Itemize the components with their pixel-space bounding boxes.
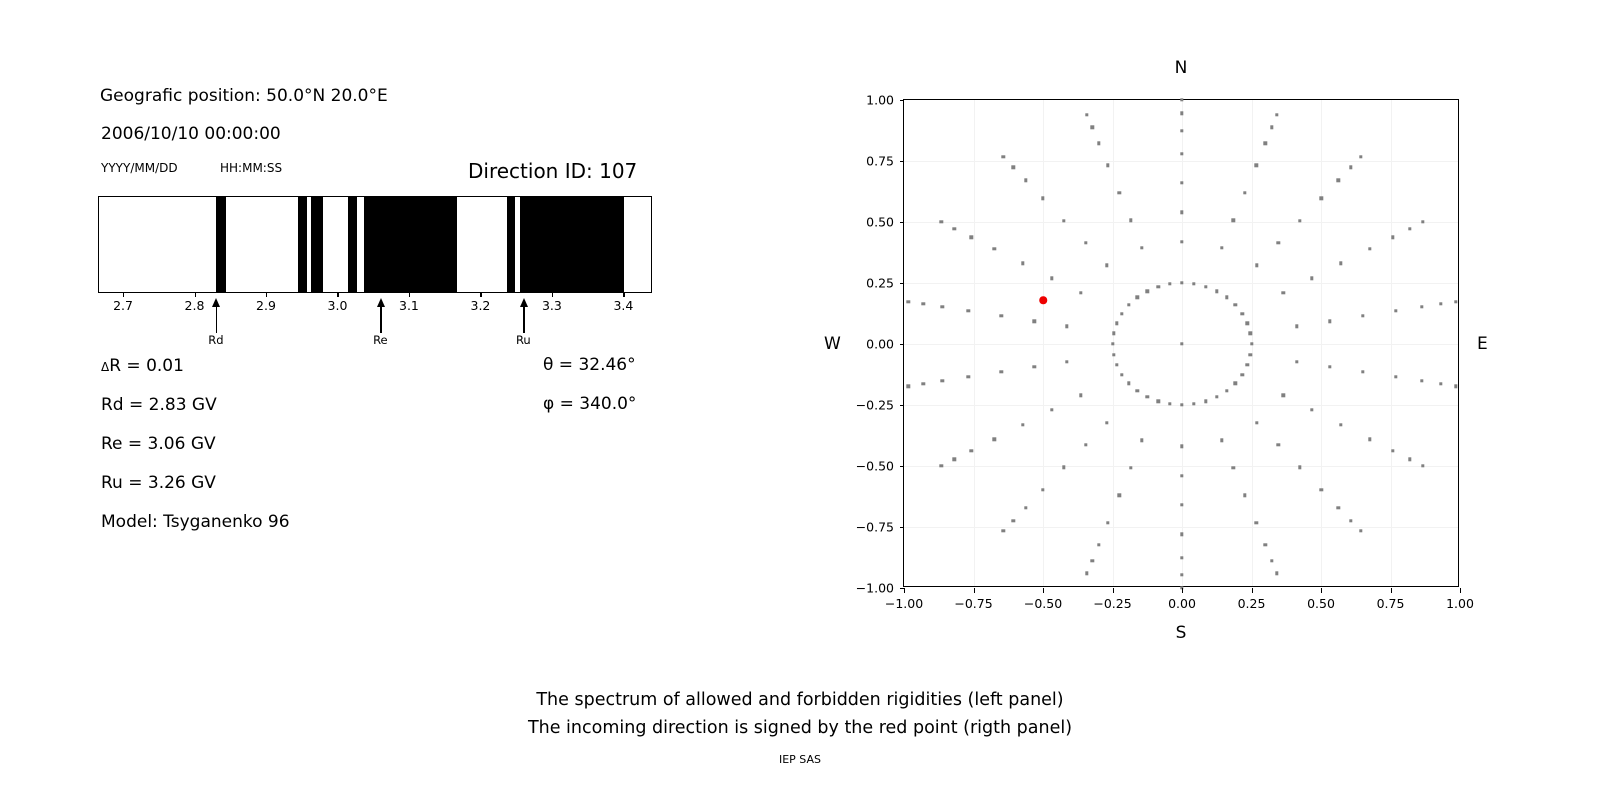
spectrum-x-tick-label: 3.1	[399, 298, 419, 313]
direction-point	[1180, 556, 1183, 559]
direction-point	[1220, 439, 1223, 442]
direction-point	[1454, 300, 1457, 303]
direction-point	[1180, 503, 1183, 506]
param-rd: Rd = 2.83 GV	[101, 395, 217, 415]
direction-point	[1000, 314, 1003, 317]
direction-point	[1249, 353, 1252, 356]
direction-point	[1106, 521, 1109, 524]
spectrum-marker-re: Re	[380, 293, 381, 339]
scatter-x-tick	[1460, 588, 1461, 593]
direction-point	[1361, 370, 1364, 373]
caption-line-2: The incoming direction is signed by the …	[0, 714, 1600, 742]
gridline-vertical	[974, 100, 975, 586]
spectrum-x-tick-label: 2.7	[113, 298, 133, 313]
scatter-x-tick	[1391, 588, 1392, 593]
param-re: Re = 3.06 GV	[101, 434, 216, 454]
scatter-y-tick	[900, 344, 905, 345]
direction-point	[967, 375, 970, 378]
param-delta-r-value: R = 0.01	[109, 356, 184, 376]
direction-point	[1420, 305, 1423, 308]
figure-root: Geografic position: 50.0°N 20.0°E 2006/1…	[0, 0, 1600, 800]
direction-point	[1084, 443, 1087, 446]
direction-point	[1115, 321, 1118, 324]
direction-point	[1157, 285, 1160, 288]
datetime-label: 2006/10/10 00:00:00	[101, 124, 281, 144]
compass-label-south: S	[1176, 623, 1187, 643]
direction-point	[1281, 291, 1284, 294]
direction-point	[1339, 262, 1342, 265]
spectrum-x-tick	[623, 293, 624, 297]
direction-point	[1263, 142, 1266, 145]
direction-point	[1090, 559, 1093, 562]
scatter-y-tick	[900, 405, 905, 406]
direction-point	[1065, 325, 1068, 328]
forbidden-band	[311, 197, 323, 292]
spectrum-x-tick-label: 3.2	[470, 298, 490, 313]
direction-point	[1298, 466, 1301, 469]
direction-point	[1328, 319, 1331, 322]
compass-label-east: E	[1477, 334, 1488, 354]
direction-point	[940, 220, 943, 223]
direction-point	[1062, 466, 1065, 469]
geographic-position-label: Geografic position: 50.0°N 20.0°E	[100, 86, 388, 106]
scatter-x-tick	[1043, 588, 1044, 593]
direction-point	[1136, 296, 1139, 299]
direction-point	[1180, 403, 1183, 406]
rigidity-spectrum-panel: Geografic position: 50.0°N 20.0°E 2006/1…	[0, 0, 780, 680]
scatter-y-tick-label: 0.50	[866, 215, 894, 230]
direction-point	[1041, 488, 1044, 491]
compass-label-north: N	[1175, 58, 1188, 78]
spectrum-marker-label: Re	[373, 333, 388, 347]
direction-point	[1277, 443, 1280, 446]
direction-point	[1420, 379, 1423, 382]
direction-point	[1180, 342, 1183, 345]
direction-point	[1359, 155, 1362, 158]
param-model: Model: Tsyganenko 96	[101, 512, 290, 532]
direction-point	[1232, 466, 1235, 469]
spectrum-x-tick-label: 2.9	[256, 298, 276, 313]
forbidden-band	[520, 197, 624, 292]
direction-point	[1204, 400, 1207, 403]
direction-point	[1243, 191, 1246, 194]
direction-point	[1084, 241, 1087, 244]
direction-point	[1011, 166, 1014, 169]
scatter-x-tick-label: −0.25	[1093, 596, 1131, 611]
direction-point	[1136, 389, 1139, 392]
direction-point	[1240, 373, 1243, 376]
scatter-y-tick	[900, 100, 905, 101]
direction-point	[1246, 321, 1249, 324]
scatter-y-tick-label: 0.25	[866, 276, 894, 291]
direction-point	[1234, 303, 1237, 306]
direction-point	[1129, 466, 1132, 469]
direction-point	[1263, 543, 1266, 546]
scatter-x-tick	[1321, 588, 1322, 593]
param-theta: θ = 32.46°	[543, 355, 636, 375]
direction-point	[1112, 332, 1115, 335]
scatter-x-tick-label: 0.75	[1377, 596, 1405, 611]
direction-point	[1240, 312, 1243, 315]
direction-point	[1408, 458, 1411, 461]
direction-point	[1220, 246, 1223, 249]
scatter-x-tick-label: 0.25	[1238, 596, 1266, 611]
time-format-hint: HH:MM:SS	[220, 161, 282, 175]
direction-point	[1408, 227, 1411, 230]
direction-point	[1255, 264, 1258, 267]
forbidden-band	[298, 197, 307, 292]
direction-point	[1180, 129, 1183, 132]
direction-point	[1180, 240, 1183, 243]
direction-point	[1246, 363, 1249, 366]
direction-point	[970, 236, 973, 239]
direction-point	[941, 305, 944, 308]
spectrum-marker-rd: Rd	[216, 293, 217, 339]
delta-symbol: Δ	[101, 360, 109, 374]
scatter-x-tick-label: −0.50	[1024, 596, 1062, 611]
direction-point	[1204, 285, 1207, 288]
gridline-vertical	[1391, 100, 1392, 586]
direction-scatter-plot: −1.00−0.75−0.50−0.250.000.250.500.751.00…	[903, 99, 1459, 587]
direction-point	[1250, 342, 1253, 345]
direction-point	[1281, 394, 1284, 397]
scatter-x-tick	[1182, 588, 1183, 593]
direction-point	[1024, 179, 1027, 182]
scatter-x-tick	[1113, 588, 1114, 593]
spectrum-x-tick	[195, 293, 196, 297]
direction-point	[940, 464, 943, 467]
gridline-horizontal	[904, 222, 1458, 223]
direction-point	[1140, 246, 1143, 249]
direction-point	[1021, 262, 1024, 265]
spectrum-x-tick-label: 3.3	[542, 298, 562, 313]
forbidden-band	[507, 197, 515, 292]
direction-point	[1180, 573, 1183, 576]
scatter-x-tick-label: 1.00	[1446, 596, 1474, 611]
direction-point	[1085, 113, 1088, 116]
spectrum-x-tick	[552, 293, 553, 297]
param-delta-r: ΔR = 0.01	[101, 356, 184, 376]
scatter-x-tick-label: 0.50	[1307, 596, 1335, 611]
footer-credit: IEP SAS	[0, 753, 1600, 766]
direction-point	[1295, 325, 1298, 328]
direction-point	[1391, 449, 1394, 452]
direction-point	[1127, 303, 1130, 306]
scatter-x-tick-label: 0.00	[1168, 596, 1196, 611]
direction-point	[1361, 314, 1364, 317]
scatter-y-tick	[900, 222, 905, 223]
scatter-x-tick-label: −1.00	[885, 596, 923, 611]
direction-point	[1112, 353, 1115, 356]
scatter-y-tick-label: 0.75	[866, 154, 894, 169]
param-phi: φ = 340.0°	[543, 394, 636, 414]
scatter-y-tick-label: −0.25	[856, 398, 894, 413]
marker-shaft	[523, 305, 524, 333]
direction-point	[1337, 179, 1340, 182]
rigidity-spectrum-chart	[98, 196, 652, 293]
direction-point	[1180, 533, 1183, 536]
spectrum-x-tick	[337, 293, 338, 297]
direction-point	[1168, 402, 1171, 405]
direction-point	[1120, 312, 1123, 315]
direction-point	[1180, 152, 1183, 155]
scatter-x-tick-label: −0.75	[954, 596, 992, 611]
direction-point	[1105, 264, 1108, 267]
direction-point	[1439, 382, 1442, 385]
direction-point	[953, 458, 956, 461]
figure-caption: The spectrum of allowed and forbidden ri…	[0, 686, 1600, 742]
direction-point	[1391, 236, 1394, 239]
direction-point	[1180, 181, 1183, 184]
direction-point	[1249, 332, 1252, 335]
direction-point	[1337, 506, 1340, 509]
spectrum-x-tick	[409, 293, 410, 297]
compass-label-west: W	[824, 334, 841, 354]
scatter-y-tick	[900, 466, 905, 467]
direction-point	[1041, 197, 1044, 200]
direction-point	[1368, 437, 1371, 440]
direction-point	[1215, 395, 1218, 398]
spectrum-x-tick-label: 3.4	[613, 298, 633, 313]
direction-point	[1298, 219, 1301, 222]
direction-point	[1394, 309, 1397, 312]
direction-point	[1180, 281, 1183, 284]
gridline-vertical	[1321, 100, 1322, 586]
direction-point	[1320, 488, 1323, 491]
direction-point	[1011, 519, 1014, 522]
direction-point	[1192, 282, 1195, 285]
direction-point	[1050, 276, 1053, 279]
direction-point	[1349, 519, 1352, 522]
direction-point	[1111, 342, 1114, 345]
direction-point	[1021, 423, 1024, 426]
scatter-y-tick	[900, 527, 905, 528]
direction-point	[1254, 163, 1257, 166]
direction-point	[1180, 98, 1183, 101]
direction-point	[1339, 423, 1342, 426]
scatter-y-tick-label: 0.00	[866, 337, 894, 352]
direction-point	[1234, 382, 1237, 385]
direction-point	[1192, 402, 1195, 405]
direction-id-label: Direction ID: 107	[468, 159, 637, 183]
direction-point	[1180, 474, 1183, 477]
forbidden-band	[216, 197, 226, 292]
direction-point	[1105, 421, 1108, 424]
direction-point	[1225, 389, 1228, 392]
direction-point	[1002, 155, 1005, 158]
date-format-hint: YYYY/MM/DD	[101, 161, 178, 175]
direction-point	[1146, 289, 1149, 292]
direction-point	[1050, 408, 1053, 411]
direction-point	[1277, 241, 1280, 244]
spectrum-marker-label: Rd	[208, 333, 223, 347]
direction-point	[1310, 408, 1313, 411]
caption-line-1: The spectrum of allowed and forbidden ri…	[0, 686, 1600, 714]
direction-point	[1270, 126, 1273, 129]
direction-point	[1140, 439, 1143, 442]
forbidden-band	[364, 197, 457, 292]
direction-point	[1270, 559, 1273, 562]
direction-point	[1225, 296, 1228, 299]
direction-point	[1168, 282, 1171, 285]
direction-point	[1421, 220, 1424, 223]
direction-point	[1118, 191, 1121, 194]
direction-point	[922, 302, 925, 305]
direction-point	[1118, 494, 1121, 497]
direction-point	[1243, 494, 1246, 497]
spectrum-x-tick	[266, 293, 267, 297]
gridline-horizontal	[904, 161, 1458, 162]
spectrum-x-tick-label: 2.8	[185, 298, 205, 313]
direction-point	[1106, 163, 1109, 166]
marker-shaft	[380, 305, 381, 333]
spectrum-x-axis: 2.72.82.93.03.13.23.33.4RdReRu	[98, 293, 652, 351]
scatter-y-tick-label: −1.00	[856, 581, 894, 596]
direction-point	[1368, 247, 1371, 250]
incoming-direction-point	[1039, 296, 1047, 304]
gridline-horizontal	[904, 527, 1458, 528]
direction-point	[1146, 395, 1149, 398]
spectrum-x-tick	[480, 293, 481, 297]
direction-point	[922, 382, 925, 385]
direction-point	[1090, 126, 1093, 129]
direction-point	[1421, 464, 1424, 467]
direction-point	[1328, 365, 1331, 368]
spectrum-marker-label: Ru	[516, 333, 531, 347]
direction-point	[1129, 218, 1132, 221]
direction-point	[1097, 142, 1100, 145]
direction-point	[1127, 382, 1130, 385]
forbidden-band	[348, 197, 357, 292]
direction-point	[1062, 219, 1065, 222]
param-ru: Ru = 3.26 GV	[101, 473, 216, 493]
direction-point	[1157, 400, 1160, 403]
spectrum-bar	[98, 196, 652, 293]
gridline-horizontal	[904, 466, 1458, 467]
scatter-y-tick-label: −0.50	[856, 459, 894, 474]
direction-point	[1310, 276, 1313, 279]
direction-point	[1002, 529, 1005, 532]
direction-point	[1000, 370, 1003, 373]
direction-point	[1180, 211, 1183, 214]
direction-point	[1320, 197, 1323, 200]
direction-point	[1439, 302, 1442, 305]
direction-point	[1254, 521, 1257, 524]
direction-point	[993, 437, 996, 440]
direction-point	[970, 449, 973, 452]
direction-point	[1180, 445, 1183, 448]
direction-point	[907, 385, 910, 388]
scatter-y-tick-label: 1.00	[866, 93, 894, 108]
direction-point	[1275, 572, 1278, 575]
direction-point	[941, 379, 944, 382]
direction-point	[1024, 506, 1027, 509]
direction-point	[1097, 543, 1100, 546]
marker-shaft	[216, 305, 217, 333]
direction-point	[1349, 166, 1352, 169]
direction-point	[1079, 291, 1082, 294]
direction-point	[1085, 572, 1088, 575]
scatter-y-tick	[900, 161, 905, 162]
direction-point	[953, 227, 956, 230]
direction-point	[1120, 373, 1123, 376]
direction-point	[1275, 113, 1278, 116]
scatter-x-tick	[1252, 588, 1253, 593]
direction-point	[1115, 363, 1118, 366]
scatter-x-tick	[904, 588, 905, 593]
direction-point	[1394, 375, 1397, 378]
direction-point	[1180, 112, 1183, 115]
direction-point	[1215, 289, 1218, 292]
direction-point	[967, 309, 970, 312]
direction-point	[1079, 394, 1082, 397]
scatter-y-tick	[900, 283, 905, 284]
spectrum-marker-ru: Ru	[523, 293, 524, 339]
scatter-x-tick	[974, 588, 975, 593]
gridline-vertical	[1043, 100, 1044, 586]
direction-point	[1032, 319, 1035, 322]
direction-point	[1232, 218, 1235, 221]
direction-point	[1065, 360, 1068, 363]
direction-point	[1032, 365, 1035, 368]
direction-point	[1255, 421, 1258, 424]
direction-point	[907, 300, 910, 303]
direction-point	[993, 247, 996, 250]
spectrum-x-tick	[123, 293, 124, 297]
direction-point	[1454, 385, 1457, 388]
scatter-y-tick-label: −0.75	[856, 520, 894, 535]
direction-point	[1295, 360, 1298, 363]
direction-point	[1359, 529, 1362, 532]
spectrum-x-tick-label: 3.0	[328, 298, 348, 313]
